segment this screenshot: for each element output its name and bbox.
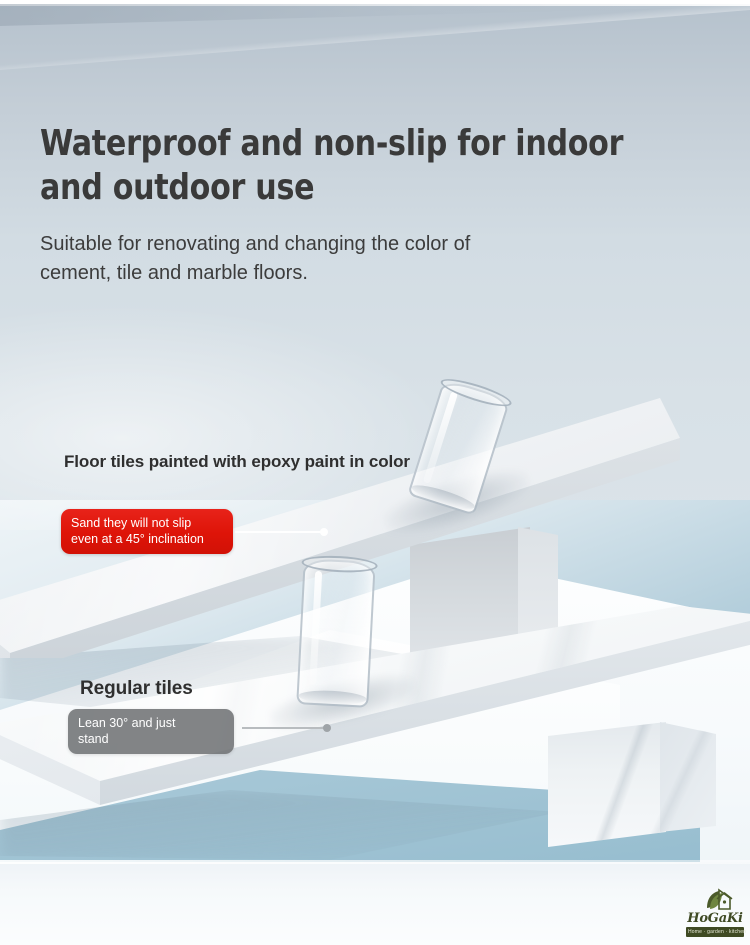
headline-block: Waterproof and non-slip for indoor and o… (40, 122, 710, 288)
caption-epoxy-painted-tiles: Floor tiles painted with epoxy paint in … (64, 452, 410, 472)
floor-front-band (0, 862, 750, 945)
leader-dot (323, 724, 331, 732)
leader-line-stroke (242, 727, 328, 729)
page-subtitle: Suitable for renovating and changing the… (40, 230, 710, 288)
promo-banner: Waterproof and non-slip for indoor and o… (0, 0, 750, 945)
callout-non-slip-45: Sand they will not slip even at a 45° in… (61, 509, 233, 554)
leader-dot (320, 528, 328, 536)
glass-body (296, 558, 376, 708)
glass-cylinder-lower (296, 558, 376, 708)
callout-lean-30: Lean 30° and just stand (68, 709, 234, 754)
logo-wordmark: HoGaKi (686, 912, 744, 926)
floor-front-edge (0, 860, 750, 864)
caption-regular-tiles: Regular tiles (80, 678, 193, 700)
brand-logo: HoGaKi Home · garden · kitchen (686, 888, 744, 937)
logo-tagline: Home · garden · kitchen (686, 927, 744, 937)
house-leaf-icon (686, 888, 744, 912)
page-title: Waterproof and non-slip for indoor and o… (40, 122, 663, 210)
leader-line-stroke (235, 531, 325, 533)
leader-line-red (235, 531, 325, 533)
leader-line-gray (242, 727, 328, 729)
